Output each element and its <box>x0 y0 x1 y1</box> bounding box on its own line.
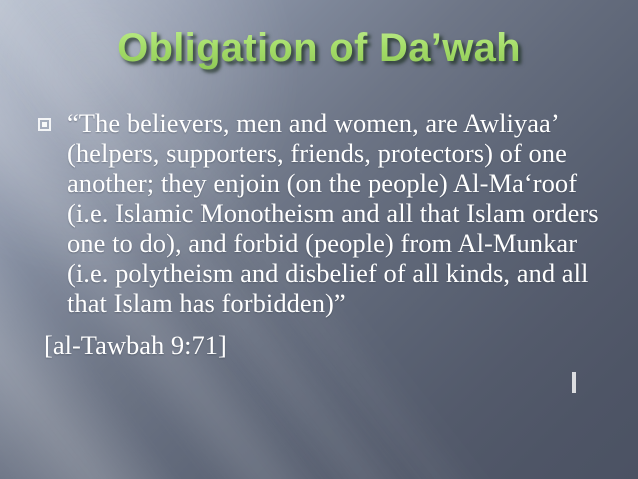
square-bullet-icon <box>38 118 51 131</box>
slide-content: Obligation of Da’wah Obligation of Da’wa… <box>0 0 638 479</box>
quote-citation: [al-Tawbah 9:71] <box>44 330 227 360</box>
slide-canvas: Obligation of Da’wah Obligation of Da’wa… <box>0 0 638 479</box>
quote-text: “The believers, men and women, are Awliy… <box>67 108 618 318</box>
list-item: “The believers, men and women, are Awliy… <box>38 108 618 318</box>
slide-body: “The believers, men and women, are Awliy… <box>38 108 618 318</box>
list-item-empty <box>572 374 576 392</box>
square-bullet-icon <box>572 372 576 393</box>
slide-title: Obligation of Da’wah <box>0 26 638 70</box>
